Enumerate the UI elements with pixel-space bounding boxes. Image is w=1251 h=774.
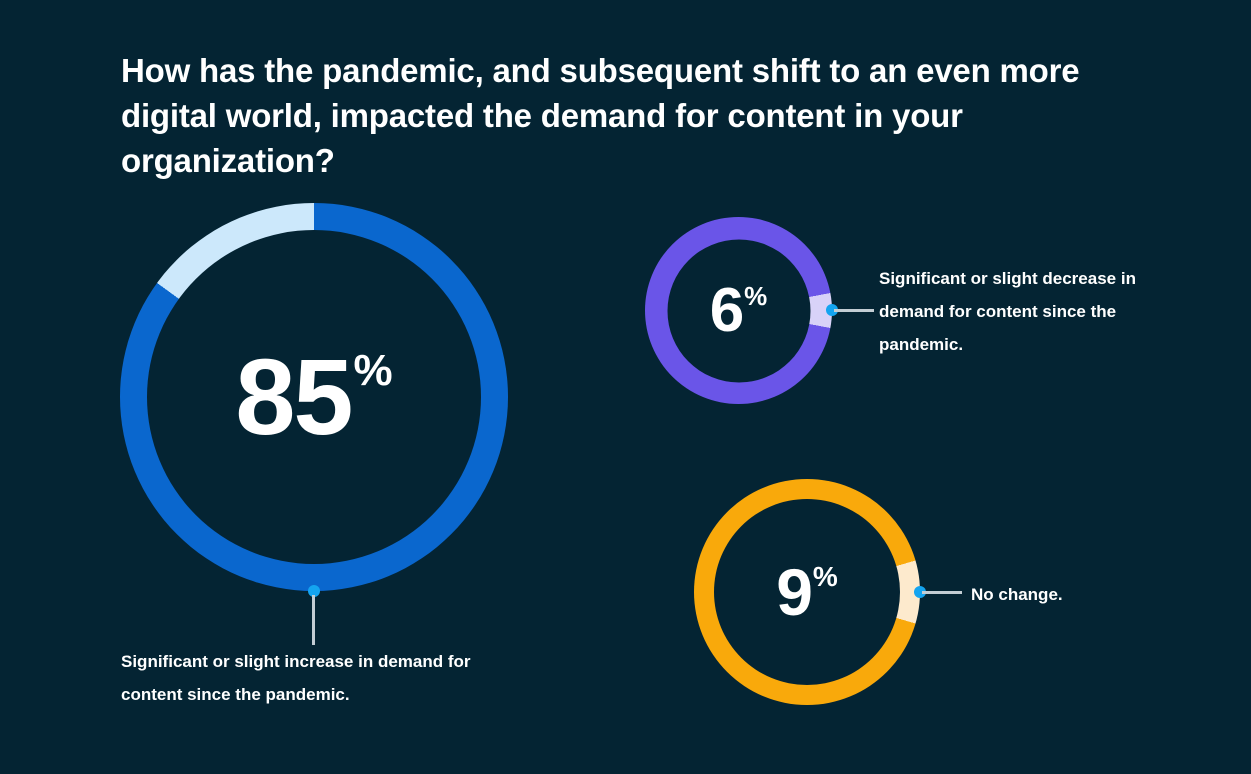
leader-line-decrease: [834, 309, 874, 312]
donut-value-number-nochange: 9: [776, 559, 812, 625]
leader-line-increase: [312, 595, 315, 645]
donut-value-number-increase: 85: [235, 343, 351, 451]
donut-chart-decrease: 6 %: [645, 217, 832, 404]
donut-value-number-decrease: 6: [710, 280, 743, 342]
caption-nochange: No change.: [971, 578, 1211, 611]
donut-value-nochange: 9 %: [776, 559, 838, 625]
leader-line-nochange: [922, 591, 962, 594]
percent-symbol-increase: %: [354, 349, 393, 393]
donut-value-increase: 85 %: [235, 343, 392, 451]
caption-decrease: Significant or slight decrease in demand…: [879, 262, 1169, 361]
percent-symbol-decrease: %: [744, 283, 767, 309]
donut-chart-nochange: 9 %: [694, 479, 920, 705]
percent-symbol-nochange: %: [813, 563, 838, 591]
donut-value-decrease: 6 %: [710, 280, 768, 342]
donut-chart-increase: 85 %: [120, 203, 508, 591]
caption-increase: Significant or slight increase in demand…: [121, 645, 521, 711]
infographic-canvas: How has the pandemic, and subsequent shi…: [0, 0, 1251, 774]
page-title: How has the pandemic, and subsequent shi…: [121, 48, 1101, 183]
